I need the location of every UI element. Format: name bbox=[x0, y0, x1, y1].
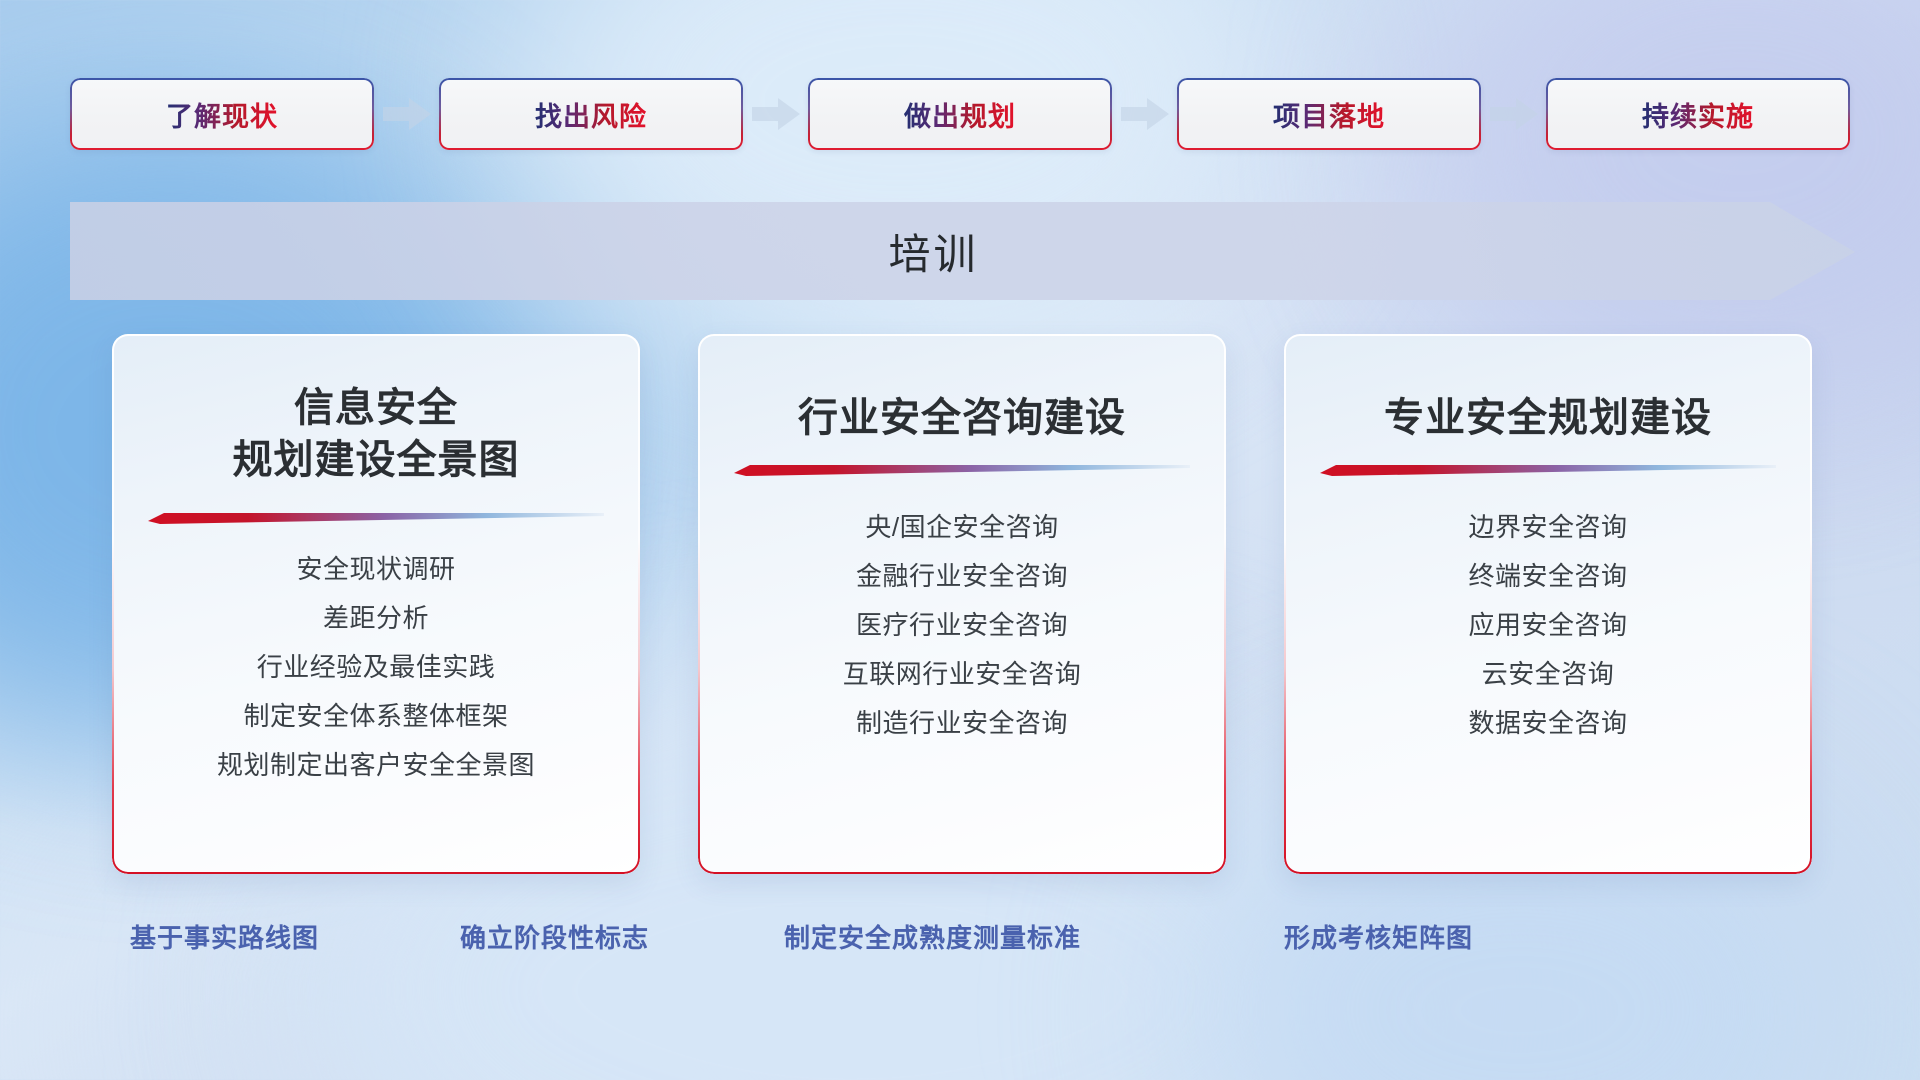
slide-stage: 了解现状 找出风险 做出规划 项目落地 bbox=[0, 0, 1920, 1080]
step-box-3[interactable]: 做出规划 bbox=[808, 78, 1112, 150]
arrow-right-icon bbox=[750, 94, 802, 134]
process-step-row: 了解现状 找出风险 做出规划 项目落地 bbox=[70, 78, 1850, 150]
banner-label: 培训 bbox=[70, 196, 1855, 306]
list-item: 应用安全咨询 bbox=[1468, 604, 1627, 646]
step-box-5[interactable]: 持续实施 bbox=[1546, 78, 1850, 150]
caption-item: 确立阶段性标志 bbox=[460, 918, 649, 955]
list-item: 制造行业安全咨询 bbox=[856, 702, 1068, 744]
caption-item: 基于事实路线图 bbox=[130, 918, 319, 955]
list-item: 规划制定出客户安全全景图 bbox=[217, 744, 535, 786]
card-industry-security-consulting[interactable]: 行业安全咨询建设 bbox=[698, 334, 1226, 874]
list-item: 差距分析 bbox=[323, 597, 429, 639]
caption-item: 形成考核矩阵图 bbox=[1284, 918, 1473, 955]
gradient-divider-icon bbox=[734, 462, 1190, 476]
arrow-right-icon bbox=[1119, 94, 1171, 134]
gradient-divider-icon bbox=[1320, 462, 1776, 476]
card-item-list: 安全现状调研 差距分析 行业经验及最佳实践 制定安全体系整体框架 规划制定出客户… bbox=[217, 548, 535, 787]
arrow-right-icon bbox=[381, 94, 433, 134]
card-item-list: 边界安全咨询 终端安全咨询 应用安全咨询 云安全咨询 数据安全咨询 bbox=[1468, 506, 1627, 745]
list-item: 央/国企安全咨询 bbox=[865, 506, 1058, 548]
card-information-security-blueprint[interactable]: 信息安全 规划建设全景图 bbox=[112, 334, 640, 874]
step-label: 持续实施 bbox=[1642, 95, 1754, 134]
caption-item: 制定安全成熟度测量标准 bbox=[784, 918, 1081, 955]
caption-row: 基于事实路线图 确立阶段性标志 制定安全成熟度测量标准 形成考核矩阵图 bbox=[112, 918, 1812, 962]
card-title: 信息安全 规划建设全景图 bbox=[233, 382, 520, 486]
arrow-right-icon bbox=[1488, 94, 1540, 134]
list-item: 金融行业安全咨询 bbox=[856, 555, 1068, 597]
step-box-4[interactable]: 项目落地 bbox=[1177, 78, 1481, 150]
list-item: 制定安全体系整体框架 bbox=[243, 695, 508, 737]
step-label: 了解现状 bbox=[166, 95, 278, 134]
list-item: 云安全咨询 bbox=[1482, 653, 1615, 695]
list-item: 安全现状调研 bbox=[296, 548, 455, 590]
card-title: 行业安全咨询建设 bbox=[798, 392, 1126, 444]
step-label: 找出风险 bbox=[535, 95, 647, 134]
card-row: 信息安全 规划建设全景图 bbox=[112, 334, 1812, 874]
list-item: 终端安全咨询 bbox=[1468, 555, 1627, 597]
training-banner: 培训 bbox=[70, 196, 1855, 306]
step-label: 做出规划 bbox=[904, 95, 1016, 134]
list-item: 医疗行业安全咨询 bbox=[856, 604, 1068, 646]
step-label: 项目落地 bbox=[1273, 95, 1385, 134]
list-item: 行业经验及最佳实践 bbox=[257, 646, 496, 688]
card-item-list: 央/国企安全咨询 金融行业安全咨询 医疗行业安全咨询 互联网行业安全咨询 制造行… bbox=[843, 506, 1082, 745]
step-box-2[interactable]: 找出风险 bbox=[439, 78, 743, 150]
step-box-1[interactable]: 了解现状 bbox=[70, 78, 374, 150]
list-item: 数据安全咨询 bbox=[1468, 702, 1627, 744]
list-item: 互联网行业安全咨询 bbox=[843, 653, 1082, 695]
card-title: 专业安全规划建设 bbox=[1384, 392, 1712, 444]
card-professional-security-planning[interactable]: 专业安全规划建设 bbox=[1284, 334, 1812, 874]
list-item: 边界安全咨询 bbox=[1468, 506, 1627, 548]
gradient-divider-icon bbox=[148, 510, 604, 524]
